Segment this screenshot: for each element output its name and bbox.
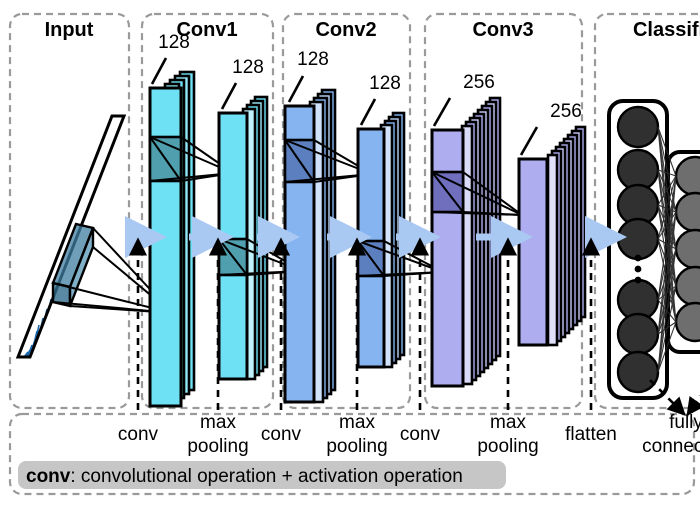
- conv3-b-depth-label: 256: [550, 101, 582, 122]
- legend-rest: : convolutional operation + activation o…: [70, 466, 462, 487]
- op-label-fully-connected-line1: fully: [669, 412, 700, 433]
- conv2-feature-stack-b: 128: [358, 73, 443, 367]
- op-label-pool-3-line2: pooling: [477, 436, 538, 457]
- group-title-conv2: Conv2: [315, 19, 376, 41]
- diagram-canvas: Input Conv1 Conv2 Conv3 Classifier: [0, 0, 700, 525]
- group-boxes: [10, 14, 700, 408]
- op-label-fully-connected-line2: connected: [642, 436, 700, 457]
- op-label-pool-3-line1: max: [490, 412, 526, 433]
- conv3-b-face: [519, 159, 547, 345]
- conv1-a-depth-label: 128: [158, 32, 190, 53]
- conv1-a-face: [150, 88, 181, 406]
- input-receptive-field-cube: [53, 224, 93, 306]
- conv3-a-face: [432, 130, 463, 386]
- neuron: [618, 107, 658, 147]
- conv1-b-depth-label: 128: [232, 57, 264, 78]
- cnn-architecture-figure: Input Conv1 Conv2 Conv3 Classifier: [0, 0, 700, 525]
- op-label-pool-2-line1: max: [339, 412, 375, 433]
- group-title-input: Input: [45, 19, 94, 41]
- op-label-conv-1: conv: [118, 424, 159, 445]
- vertical-ellipsis-icon: [635, 255, 642, 284]
- neuron: [618, 314, 658, 354]
- neuron: [618, 219, 658, 259]
- conv2-a-depth-label: 128: [297, 49, 329, 70]
- flatten-neuron-column: [609, 101, 667, 398]
- legend-text: conv: convolutional operation + activati…: [26, 466, 463, 487]
- op-label-pool-1-line2: pooling: [187, 436, 248, 457]
- conv3-a-depth-label: 256: [463, 72, 495, 93]
- op-label-conv-2: conv: [261, 424, 302, 445]
- op-label-flatten: flatten: [565, 424, 617, 445]
- group-title-conv3: Conv3: [472, 19, 533, 41]
- conv2-b-depth-label: 128: [369, 73, 401, 94]
- conv3-feature-stack-b: 256: [519, 101, 585, 345]
- legend-bold-term: conv: [26, 466, 71, 487]
- group-title-classifier: Classifier: [633, 19, 700, 41]
- op-label-pool-2-line2: pooling: [326, 436, 387, 457]
- neuron: [618, 352, 658, 392]
- op-label-pool-1-line1: max: [200, 412, 236, 433]
- op-label-conv-3: conv: [400, 424, 441, 445]
